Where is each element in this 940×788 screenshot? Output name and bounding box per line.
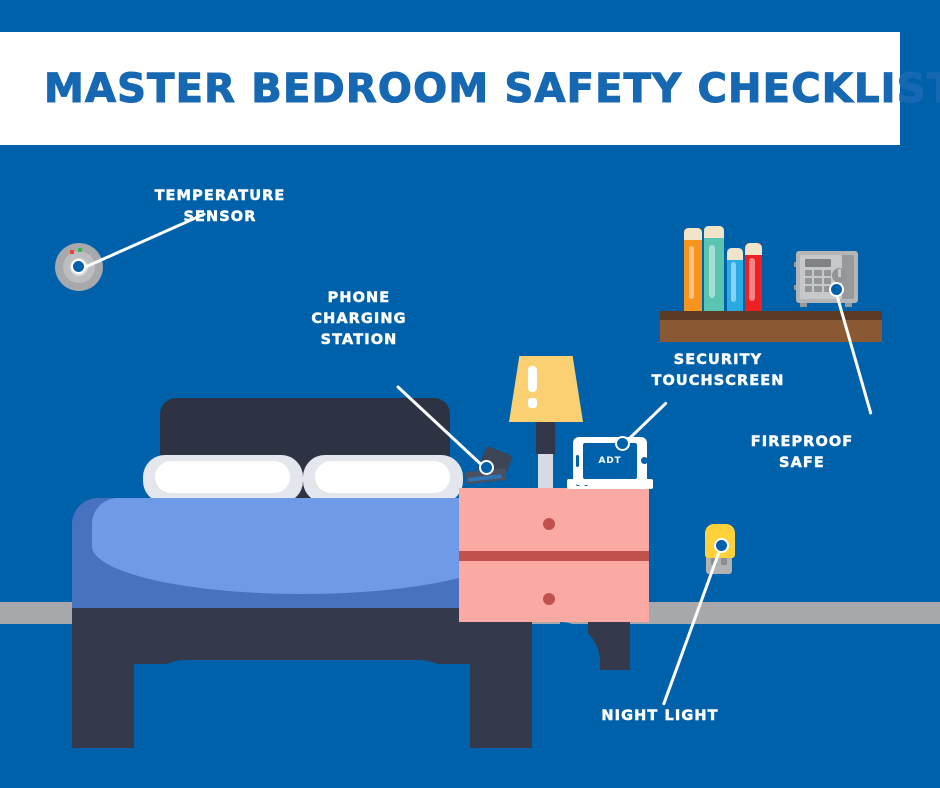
bed-frame-arch <box>134 660 470 752</box>
book-red <box>745 243 762 312</box>
book-pages-top <box>727 248 743 260</box>
book-stripe <box>689 246 694 298</box>
safe-keypad[interactable] <box>805 270 831 292</box>
callout-dot-fireproof-safe <box>829 282 844 297</box>
safe-key[interactable] <box>805 286 812 292</box>
lamp-highlight-upper <box>528 366 537 392</box>
touchscreen-home-button[interactable] <box>641 457 648 464</box>
touchscreen-brand-label: ADT <box>583 443 637 479</box>
safe-key[interactable] <box>824 270 831 276</box>
wall-shelf-top <box>660 311 882 320</box>
callout-dot-phone-charging <box>479 460 494 475</box>
temperature-sensor-led-green <box>78 248 82 252</box>
callout-dot-temperature-sensor <box>71 259 86 274</box>
bed-leg-right <box>470 660 532 748</box>
label-temperature-sensor: TEMPERATURE SENSOR <box>140 186 300 228</box>
temperature-sensor-led-red <box>70 250 74 254</box>
book-pages-top <box>684 228 702 240</box>
pillow-left-inner <box>155 461 290 493</box>
leader-line-fireproof-safe <box>835 291 873 415</box>
lamp-neck <box>536 422 555 454</box>
book-stripe <box>731 262 736 302</box>
nightstand-drawer-divider <box>459 551 649 561</box>
book-pages-top <box>704 226 724 238</box>
callout-dot-night-light <box>714 538 729 553</box>
nightstand-knob-top <box>543 518 555 530</box>
callout-dot-security-touchscreen <box>615 436 630 451</box>
safe-key[interactable] <box>824 278 831 284</box>
lamp-stem <box>538 454 553 488</box>
safe-foot-right <box>845 303 852 307</box>
book-teal <box>704 226 724 312</box>
bed-blanket-highlight <box>92 498 512 594</box>
pillow-right-inner <box>315 461 450 493</box>
book-stripe <box>749 258 754 301</box>
leader-line-night-light <box>662 547 722 706</box>
safe-key[interactable] <box>814 270 821 276</box>
label-night-light: NIGHT LIGHT <box>570 706 750 727</box>
book-pages-top <box>745 243 762 255</box>
lamp-shade <box>509 356 583 422</box>
nightstand-knob-bottom <box>543 593 555 605</box>
lamp-highlight-lower <box>528 398 537 408</box>
label-security-touchscreen: SECURITY TOUCHSCREEN <box>636 350 800 392</box>
book-stripe <box>709 245 715 298</box>
safe-key[interactable] <box>814 278 821 284</box>
safe-foot-left <box>800 303 807 307</box>
infographic-canvas: MASTER BEDROOM SAFETY CHECKLIST ADT <box>0 0 940 788</box>
safe-key[interactable] <box>814 286 821 292</box>
safe-key[interactable] <box>805 270 812 276</box>
label-phone-charging: PHONE CHARGING STATION <box>272 288 446 351</box>
bed-leg-left <box>72 660 134 748</box>
page-title: MASTER BEDROOM SAFETY CHECKLIST <box>0 32 900 145</box>
book-orange <box>684 228 702 312</box>
safe-key[interactable] <box>805 278 812 284</box>
safe-dial-handle[interactable] <box>832 268 847 283</box>
touchscreen-speaker-bar <box>576 455 579 467</box>
book-blue <box>727 248 743 312</box>
safe-display <box>805 259 831 267</box>
label-fireproof-safe: FIREPROOF SAFE <box>722 432 882 474</box>
